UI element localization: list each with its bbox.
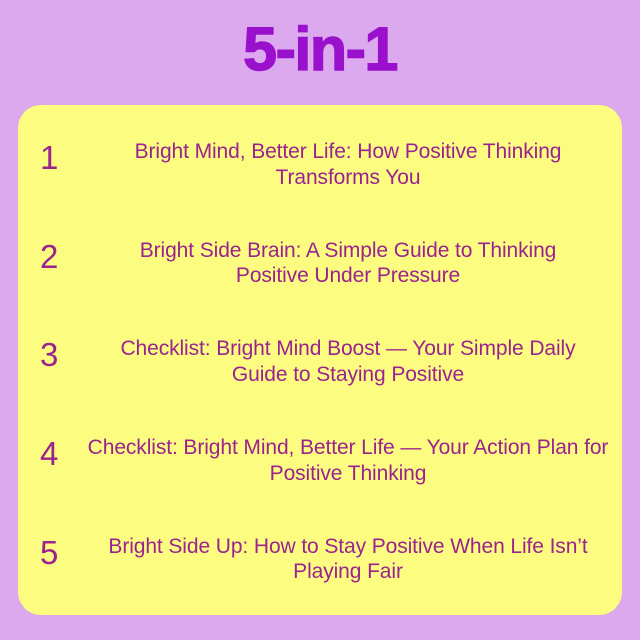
list-item: 2 Bright Side Brain: A Simple Guide to T… xyxy=(18,238,622,289)
list-item: 3 Checklist: Bright Mind Boost — Your Si… xyxy=(18,336,622,387)
bundle-promo-page: 5-in-1 1 Bright Mind, Better Life: How P… xyxy=(0,0,640,640)
list-item: 5 Bright Side Up: How to Stay Positive W… xyxy=(18,534,622,585)
bundle-list-card: 1 Bright Mind, Better Life: How Positive… xyxy=(18,105,622,615)
list-item-number: 1 xyxy=(40,139,80,174)
list-item-number: 4 xyxy=(40,435,80,470)
list-item-title: Bright Side Up: How to Stay Positive Whe… xyxy=(80,534,616,585)
list-item-title: Bright Mind, Better Life: How Positive T… xyxy=(80,139,616,190)
list-item-number: 3 xyxy=(40,336,80,371)
list-item-number: 2 xyxy=(40,238,80,273)
list-item: 1 Bright Mind, Better Life: How Positive… xyxy=(18,139,622,190)
list-item-number: 5 xyxy=(40,534,80,569)
page-title: 5-in-1 xyxy=(0,14,640,86)
list-item-title: Bright Side Brain: A Simple Guide to Thi… xyxy=(80,238,616,289)
list-item-title: Checklist: Bright Mind, Better Life — Yo… xyxy=(80,435,616,486)
list-item: 4 Checklist: Bright Mind, Better Life — … xyxy=(18,435,622,486)
list-item-title: Checklist: Bright Mind Boost — Your Simp… xyxy=(80,336,616,387)
